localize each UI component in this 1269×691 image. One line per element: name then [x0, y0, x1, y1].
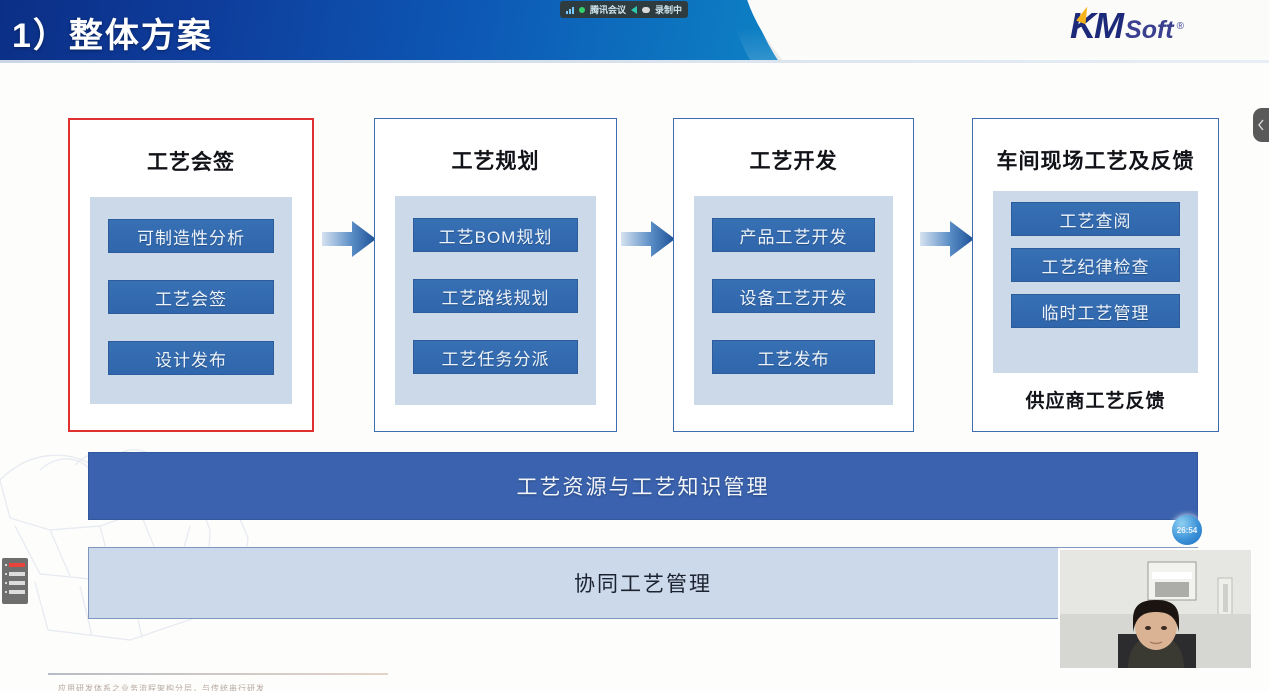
stage-3-item-2[interactable]: 设备工艺开发: [712, 279, 875, 313]
stage-4-items: 工艺查阅 工艺纪律检查 临时工艺管理: [993, 191, 1198, 373]
participant-video-thumbnail[interactable]: [1058, 548, 1253, 670]
bullet-icon: [5, 564, 7, 566]
mini-panel-row[interactable]: [5, 580, 25, 586]
speaker-icon[interactable]: [631, 6, 637, 14]
stage-1-item-2[interactable]: 工艺会签: [108, 280, 274, 314]
meeting-timer-badge[interactable]: 26:54: [1172, 515, 1202, 545]
header-underline: [0, 60, 1269, 63]
stage-1-item-1[interactable]: 可制造性分析: [108, 219, 274, 253]
bullet-icon: [5, 582, 7, 584]
foundation-bar-resource-label: 工艺资源与工艺知识管理: [517, 471, 770, 501]
bullet-icon: [5, 591, 7, 593]
stage-2-item-3[interactable]: 工艺任务分派: [413, 340, 578, 374]
stage-4-title: 车间现场工艺及反馈: [973, 145, 1218, 175]
flow-arrow-1-to-2: [322, 218, 376, 260]
logo-word-text: Soft: [1125, 18, 1174, 43]
stage-card-2[interactable]: 工艺规划 工艺BOM规划 工艺路线规划 工艺任务分派: [374, 118, 617, 432]
record-indicator-icon: [642, 7, 650, 13]
footer-divider: [48, 673, 388, 675]
stage-card-1[interactable]: 工艺会签 可制造性分析 工艺会签 设计发布: [68, 118, 314, 432]
stage-1-title: 工艺会签: [70, 146, 312, 176]
stage-1-items: 可制造性分析 工艺会签 设计发布: [90, 197, 292, 404]
stage-3-title: 工艺开发: [674, 145, 913, 175]
meeting-app-name: 腾讯会议: [590, 3, 626, 16]
stage-card-4[interactable]: 车间现场工艺及反馈 工艺查阅 工艺纪律检查 临时工艺管理 供应商工艺反馈: [972, 118, 1219, 432]
status-dot-icon: [579, 7, 585, 13]
footer-caption: 应用研发体系之业务流程架构分层，与传统串行研发: [58, 683, 265, 691]
list-panel-icon[interactable]: [2, 558, 28, 604]
mini-panel-row[interactable]: [5, 571, 25, 577]
flow-arrow-2-to-3: [621, 218, 675, 260]
stage-3-item-1[interactable]: 产品工艺开发: [712, 218, 875, 252]
page-title: 1）整体方案: [12, 8, 213, 57]
flow-arrow-3-to-4: [920, 218, 974, 260]
stage-4-item-2[interactable]: 工艺纪律检查: [1011, 248, 1180, 282]
meeting-status-overlay[interactable]: 腾讯会议 录制中: [560, 1, 688, 18]
stage-3-item-3[interactable]: 工艺发布: [712, 340, 875, 374]
stage-3-items: 产品工艺开发 设备工艺开发 工艺发布: [694, 196, 893, 405]
stage-4-item-1[interactable]: 工艺查阅: [1011, 202, 1180, 236]
header-swoosh-gloss: [729, 0, 1269, 60]
foundation-bar-resource[interactable]: 工艺资源与工艺知识管理: [88, 452, 1198, 520]
recording-status-label: 录制中: [655, 3, 682, 16]
stage-2-items: 工艺BOM规划 工艺路线规划 工艺任务分派: [395, 196, 596, 405]
stage-1-item-3[interactable]: 设计发布: [108, 341, 274, 375]
signal-bars-icon: [566, 6, 574, 14]
chevron-left-icon: [1257, 119, 1265, 131]
registered-trademark-icon: ®: [1177, 21, 1184, 32]
stage-2-title: 工艺规划: [375, 145, 616, 175]
stage-2-item-1[interactable]: 工艺BOM规划: [413, 218, 578, 252]
foundation-bar-collaboration[interactable]: 协同工艺管理: [88, 547, 1198, 619]
stage-card-3[interactable]: 工艺开发 产品工艺开发 设备工艺开发 工艺发布: [673, 118, 914, 432]
stage-2-item-2[interactable]: 工艺路线规划: [413, 279, 578, 313]
stage-4-footnote: 供应商工艺反馈: [973, 386, 1218, 413]
mini-panel-row-active[interactable]: [5, 562, 25, 568]
bullet-icon: [5, 573, 7, 575]
stage-4-item-3[interactable]: 临时工艺管理: [1011, 294, 1180, 328]
mini-panel-row[interactable]: [5, 589, 25, 595]
kmsoft-logo: KM Soft ®: [1070, 8, 1184, 44]
collapse-sidebar-button[interactable]: [1253, 108, 1269, 142]
webcam-video-frame: [1060, 550, 1251, 668]
foundation-bar-collaboration-label: 协同工艺管理: [574, 568, 712, 598]
